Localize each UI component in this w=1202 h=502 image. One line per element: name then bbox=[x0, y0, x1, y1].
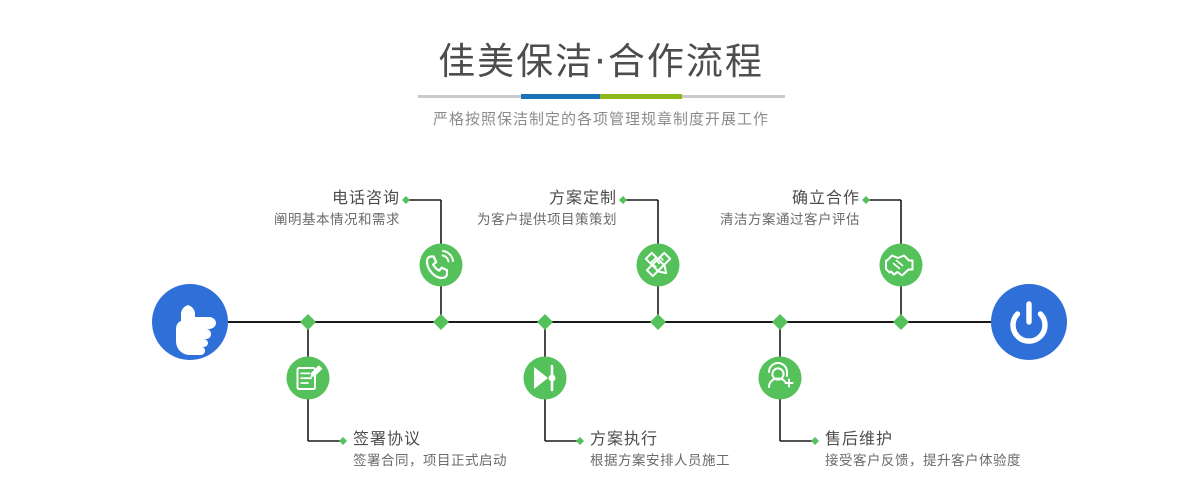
step-label-after-sales: 售后维护 接受客户反馈，提升客户体验度 bbox=[825, 428, 1021, 472]
step-desc: 阐明基本情况和需求 bbox=[274, 209, 400, 231]
step-desc: 签署合同，项目正式启动 bbox=[353, 450, 507, 472]
step-label-phone-consult: 电话咨询 阐明基本情况和需求 bbox=[274, 187, 400, 231]
step-icon-plan-customize[interactable] bbox=[637, 244, 680, 287]
step-label-establish-cooperation: 确立合作 清洁方案通过客户评估 bbox=[720, 187, 860, 231]
axis-marker-plan-customize bbox=[650, 314, 666, 330]
step-label-sign-agreement: 签署协议 签署合同，项目正式启动 bbox=[353, 428, 507, 472]
step-title: 签署协议 bbox=[353, 428, 507, 450]
step-title: 电话咨询 bbox=[274, 187, 400, 209]
step-desc: 根据方案安排人员施工 bbox=[590, 450, 730, 472]
step-icon-plan-execute[interactable] bbox=[524, 357, 567, 400]
start-node[interactable] bbox=[152, 284, 228, 360]
step-icon-after-sales[interactable] bbox=[759, 357, 802, 400]
axis-marker-after-sales bbox=[772, 314, 788, 330]
step-label-plan-customize: 方案定制 为客户提供项目策策划 bbox=[477, 187, 617, 231]
step-desc: 清洁方案通过客户评估 bbox=[720, 209, 860, 231]
step-icon-phone-consult[interactable] bbox=[420, 244, 463, 287]
axis-marker-plan-execute bbox=[537, 314, 553, 330]
flow-infographic: 佳美保洁·合作流程 严格按照保洁制定的各项管理规章制度开展工作 bbox=[0, 0, 1202, 502]
step-desc: 接受客户反馈，提升客户体验度 bbox=[825, 450, 1021, 472]
process-timeline bbox=[0, 0, 1202, 502]
step-title: 售后维护 bbox=[825, 428, 1021, 450]
axis-marker-phone-consult bbox=[433, 314, 449, 330]
step-title: 确立合作 bbox=[720, 187, 860, 209]
step-icon-establish-cooperation[interactable] bbox=[880, 244, 923, 287]
axis-marker-sign-agreement bbox=[300, 314, 316, 330]
step-desc: 为客户提供项目策策划 bbox=[477, 209, 617, 231]
end-node[interactable] bbox=[991, 284, 1067, 360]
step-title: 方案定制 bbox=[477, 187, 617, 209]
axis-marker-establish-cooperation bbox=[893, 314, 909, 330]
step-icon-sign-agreement[interactable] bbox=[287, 357, 330, 400]
step-label-plan-execute: 方案执行 根据方案安排人员施工 bbox=[590, 428, 730, 472]
step-title: 方案执行 bbox=[590, 428, 730, 450]
